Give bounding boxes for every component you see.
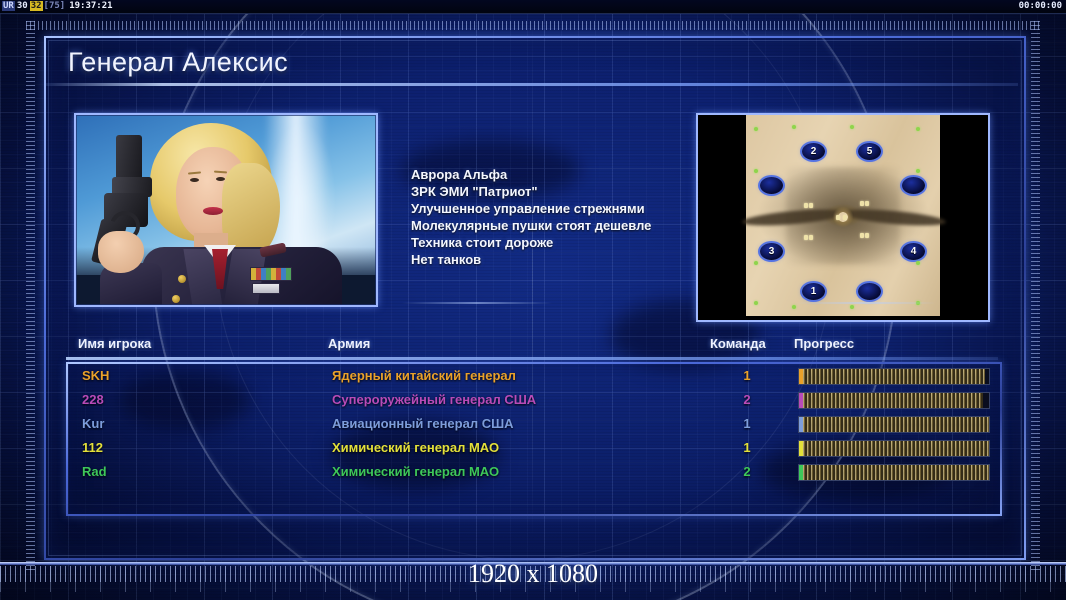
minimap-resource-dot: [850, 125, 854, 129]
header-bar: Генерал Алексис: [46, 40, 1018, 84]
table-row[interactable]: SKHЯдерный китайский генерал1: [68, 364, 1000, 388]
stat-value-2: 32: [30, 1, 43, 11]
minimap-start-marker[interactable]: 3: [760, 243, 783, 260]
page-title: Генерал Алексис: [68, 42, 288, 82]
minimap-resource-dot: [754, 127, 758, 131]
minimap-terrain: 25341: [746, 115, 940, 316]
general-description-line: Техника стоит дороже: [411, 234, 731, 251]
minimap-start-marker[interactable]: [760, 177, 783, 194]
player-team: 1: [736, 364, 758, 388]
minimap-start-marker[interactable]: 1: [802, 283, 825, 300]
general-description-line: Нет танков: [411, 251, 731, 268]
player-name: SKH: [82, 364, 109, 388]
table-row[interactable]: KurАвиационный генерал США1: [68, 412, 1000, 436]
player-army: Химический генерал МАО: [332, 436, 499, 460]
player-army: Авиационный генерал США: [332, 412, 514, 436]
minimap-resource-dot: [916, 261, 920, 265]
header-divider: [46, 83, 1018, 86]
minimap-resource-dot: [916, 169, 920, 173]
table-row[interactable]: RadХимический генерал МАО2: [68, 460, 1000, 484]
frame-ticks-left: [26, 21, 35, 573]
general-description-list: Аврора АльфаЗРК ЭМИ "Патриот"Улучшенное …: [411, 166, 731, 268]
minimap-start-marker[interactable]: [858, 283, 881, 300]
player-army: Химический генерал МАО: [332, 460, 499, 484]
match-timer: 00:00:00: [1019, 0, 1062, 13]
general-portrait: [74, 113, 378, 307]
player-progress-bar: [798, 392, 990, 409]
minimap-oil-derrick: [836, 215, 840, 220]
general-media-row: Аврора АльфаЗРК ЭМИ "Патриот"Улучшенное …: [66, 108, 998, 330]
player-army: Ядерный китайский генерал: [332, 364, 516, 388]
resolution-label: 1920 x 1080: [0, 559, 1066, 589]
minimap-oil-derrick: [804, 203, 808, 208]
progress-bar-cap: [799, 465, 803, 480]
minimap-resource-dot: [792, 125, 796, 129]
column-header-progress: Прогресс: [794, 336, 854, 351]
minimap-oil-derrick: [843, 215, 847, 220]
minimap-resource-dot: [754, 169, 758, 173]
player-list-header: Имя игрока Армия Команда Прогресс: [66, 336, 998, 360]
column-header-team: Команда: [710, 336, 766, 351]
frame-ticks-right: [1031, 21, 1040, 573]
player-team: 2: [736, 388, 758, 412]
minimap-resource-dot: [792, 305, 796, 309]
loading-screen: UR3032[75]19:37:21 00:00:00 Генерал Алек…: [0, 0, 1066, 600]
minimap-resource-dot: [754, 261, 758, 265]
network-stats: UR3032[75]19:37:21: [2, 0, 113, 13]
general-description-line: Улучшенное управление стрежнями: [411, 200, 731, 217]
accent-divider: [402, 302, 552, 304]
minimap-oil-derrick: [809, 203, 813, 208]
progress-bar-cap: [799, 369, 803, 384]
top-status-bar: UR3032[75]19:37:21 00:00:00: [0, 0, 1066, 14]
column-header-army: Армия: [328, 336, 370, 351]
player-team: 2: [736, 460, 758, 484]
player-team: 1: [736, 436, 758, 460]
progress-bar-cap: [799, 393, 803, 408]
frame-ticks-top: [26, 21, 1040, 30]
progress-bar-fill: [799, 441, 989, 456]
minimap-resource-dot: [754, 301, 758, 305]
minimap-start-marker[interactable]: 2: [802, 143, 825, 160]
column-header-player: Имя игрока: [78, 336, 151, 351]
player-name: Rad: [82, 460, 107, 484]
table-row[interactable]: 228Супероружейный генерал США2: [68, 388, 1000, 412]
stat-value-1: 30: [17, 1, 28, 11]
progress-bar-cap: [799, 441, 803, 456]
player-list: Имя игрока Армия Команда Прогресс SKHЯде…: [66, 336, 998, 536]
player-list-body: SKHЯдерный китайский генерал1228Суперору…: [66, 362, 1002, 516]
minimap-resource-dot: [916, 127, 920, 131]
player-name: Kur: [82, 412, 104, 436]
minimap-start-marker[interactable]: 4: [902, 243, 925, 260]
player-name: 112: [82, 436, 103, 460]
player-team: 1: [736, 412, 758, 436]
minimap-oil-derrick: [865, 201, 869, 206]
minimap-oil-derrick: [865, 233, 869, 238]
minimap-start-marker[interactable]: 5: [858, 143, 881, 160]
minimap-oil-derrick: [809, 235, 813, 240]
minimap-oil-derrick: [804, 235, 808, 240]
general-description-line: Аврора Альфа: [411, 166, 731, 183]
portrait-inner-border: [76, 115, 376, 305]
progress-bar-fill: [799, 393, 983, 408]
player-progress-bar: [798, 416, 990, 433]
table-row[interactable]: 112Химический генерал МАО1: [68, 436, 1000, 460]
minimap-start-marker[interactable]: [902, 177, 925, 194]
progress-bar-fill: [799, 369, 985, 384]
header-underline: [66, 357, 998, 360]
progress-bar-fill: [799, 417, 989, 432]
progress-bar-fill: [799, 465, 989, 480]
system-clock: 19:37:21: [69, 1, 112, 11]
accent-divider: [796, 302, 936, 304]
general-description-line: ЗРК ЭМИ "Патриот": [411, 183, 731, 200]
player-army: Супероружейный генерал США: [332, 388, 536, 412]
minimap-oil-derrick: [860, 201, 864, 206]
player-name: 228: [82, 388, 104, 412]
player-progress-bar: [798, 368, 990, 385]
player-progress-bar: [798, 440, 990, 457]
ur-label: UR: [2, 1, 15, 11]
minimap-resource-dot: [850, 305, 854, 309]
stat-value-3: [75]: [44, 1, 66, 11]
match-minimap[interactable]: 25341: [696, 113, 990, 322]
player-progress-bar: [798, 464, 990, 481]
minimap-oil-derrick: [860, 233, 864, 238]
general-description-line: Молекулярные пушки стоят дешевле: [411, 217, 731, 234]
progress-bar-cap: [799, 417, 803, 432]
